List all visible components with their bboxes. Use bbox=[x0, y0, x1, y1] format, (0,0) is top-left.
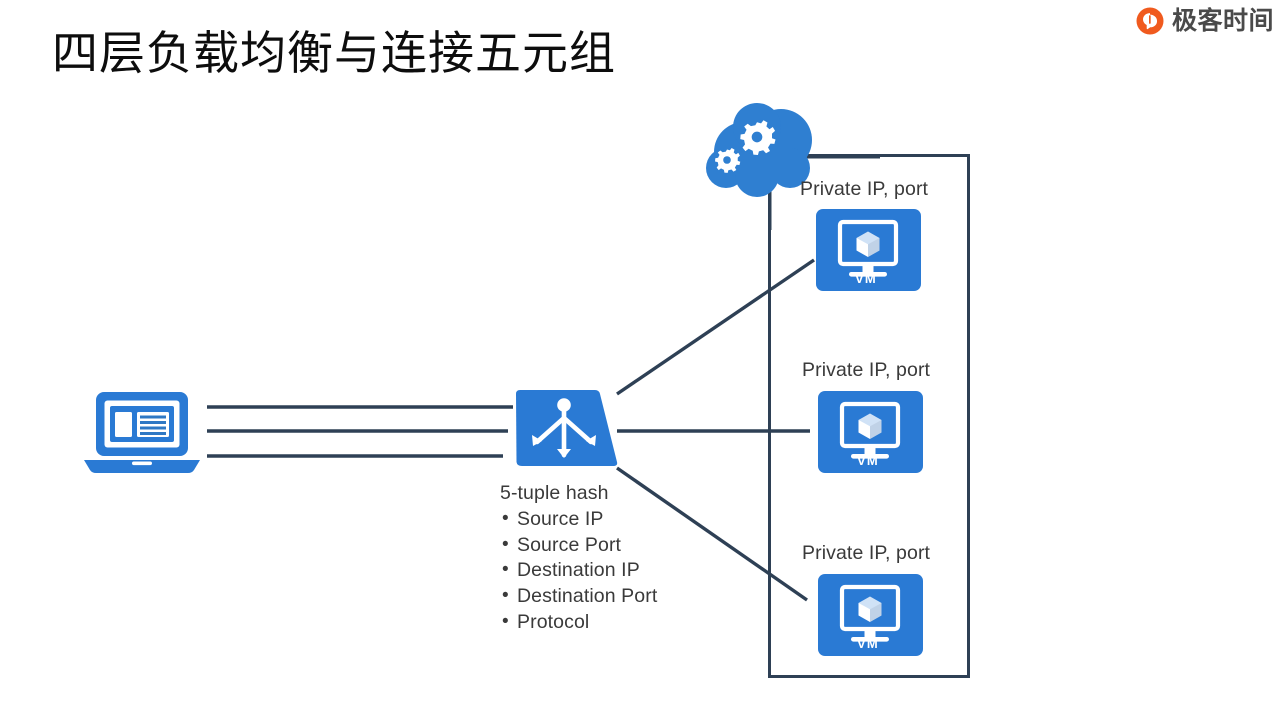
vm-tile-label-1: VM bbox=[855, 271, 877, 286]
hash-item: Protocol bbox=[500, 610, 657, 636]
hash-item: Destination Port bbox=[500, 584, 657, 610]
laptop-icon bbox=[84, 392, 200, 473]
client-link-lines bbox=[207, 407, 513, 456]
hash-item: Destination IP bbox=[500, 558, 657, 584]
load-balancer-icon[interactable] bbox=[516, 390, 617, 466]
lb-link-vm1 bbox=[617, 260, 814, 394]
hash-item: Source Port bbox=[500, 533, 657, 559]
cloud-with-gears-icon bbox=[706, 103, 812, 197]
hash-title: 5-tuple hash bbox=[500, 481, 657, 507]
vm-tile-label-3: VM bbox=[857, 636, 879, 651]
network-diagram: Private IP, port Private IP, port Privat… bbox=[0, 0, 1288, 712]
hash-item-list: Source IP Source Port Destination IP Des… bbox=[500, 507, 657, 636]
five-tuple-hash-block: 5-tuple hash Source IP Source Port Desti… bbox=[500, 481, 657, 636]
vm-tile-label-2: VM bbox=[857, 453, 879, 468]
vm-caption-2: Private IP, port bbox=[802, 359, 930, 382]
vm-caption-1: Private IP, port bbox=[800, 178, 928, 201]
hash-item: Source IP bbox=[500, 507, 657, 533]
vm-caption-3: Private IP, port bbox=[802, 542, 930, 565]
